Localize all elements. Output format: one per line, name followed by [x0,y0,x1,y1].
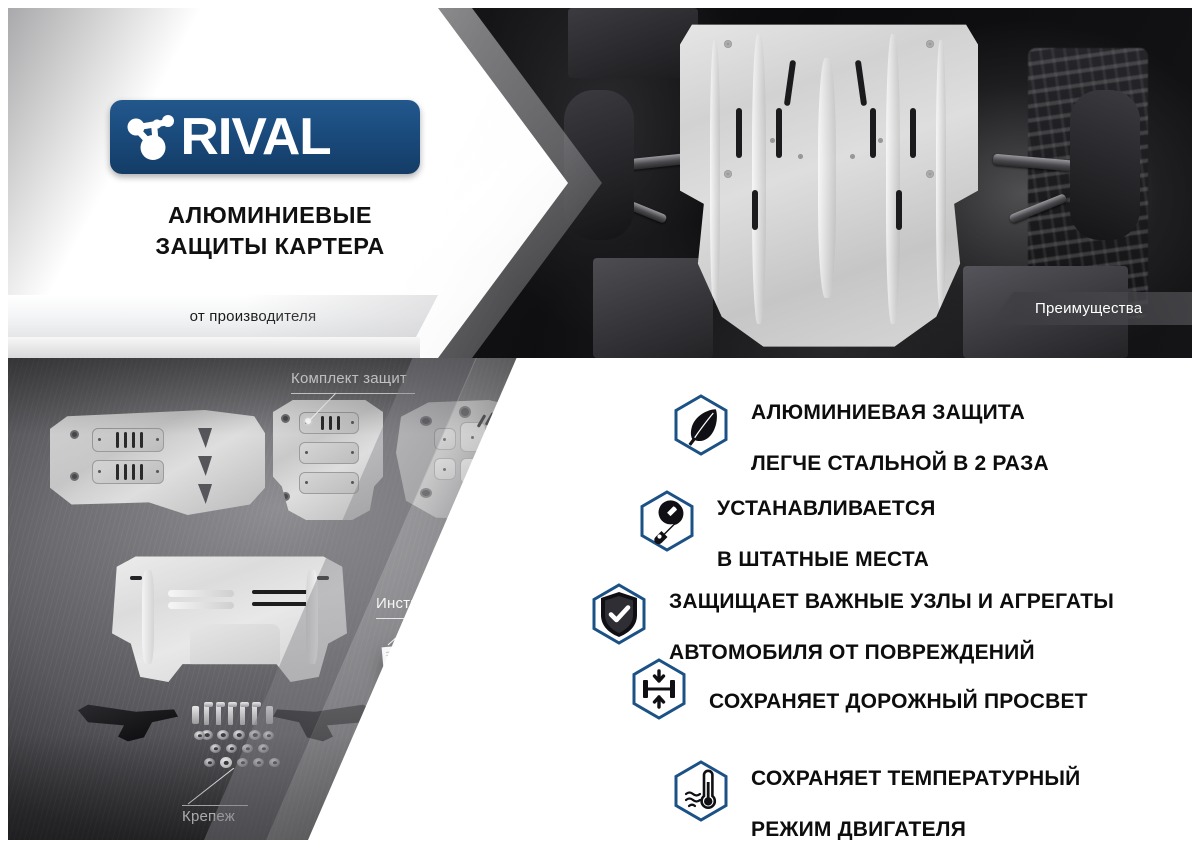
hero-underline [8,337,420,358]
feather-icon [673,394,729,456]
shield-check-icon [591,583,647,645]
feature-line1: ЗАЩИЩАЕТ ВАЖНЫЕ УЗЛЫ И АГРЕГАТЫ [669,590,1114,613]
feature-icon-frame [673,760,729,822]
underbody-part [593,258,713,358]
feature-line2: РЕЖИМ ДВИГАТЕЛЯ [751,818,966,840]
feature-item-lightweight: АЛЮМИНИЕВАЯ ЗАЩИТА ЛЕГЧЕ СТАЛЬНОЙ В 2 РА… [673,374,1049,476]
subtitle-bar: от производителя [8,295,438,337]
feature-line1: СОХРАНЯЕТ ДОРОЖНЫЙ ПРОСВЕТ [709,690,1088,713]
feature-label: СОХРАНЯЕТ ТЕМПЕРАТУРНЫЙ РЕЖИМ ДВИГАТЕЛЯ [751,740,1080,840]
feature-icon-frame [631,658,687,720]
poster-root: RIVAL АЛЮМИНИЕВЫЕ ЗАЩИТЫ КАРТЕРА от прои… [0,0,1200,848]
ground-clearance-icon [631,658,687,720]
feature-label: СОХРАНЯЕТ ДОРОЖНЫЙ ПРОСВЕТ [709,663,1088,714]
feature-label: ЗАЩИЩАЕТ ВАЖНЫЕ УЗЛЫ И АГРЕГАТЫ АВТОМОБИ… [669,563,1114,665]
molecule-icon [110,100,188,174]
page-title: АЛЮМИНИЕВЫЕ ЗАЩИТЫ КАРТЕРА [70,200,470,262]
installed-skid-plate [680,18,978,350]
feature-item-temperature: СОХРАНЯЕТ ТЕМПЕРАТУРНЫЙ РЕЖИМ ДВИГАТЕЛЯ [673,740,1080,840]
thermometer-icon [673,760,729,822]
page-title-line2: ЗАЩИТЫ КАРТЕРА [70,231,470,262]
page-title-line1: АЛЮМИНИЕВЫЕ [70,200,470,231]
wrench-icon [639,490,695,552]
feature-line1: УСТАНАВЛИВАЕТСЯ [717,497,936,520]
features-list: АЛЮМИНИЕВАЯ ЗАЩИТА ЛЕГЧЕ СТАЛЬНОЙ В 2 РА… [8,358,1192,840]
bottom-section: Комплект защит [8,358,1192,840]
poster-frame: RIVAL АЛЮМИНИЕВЫЕ ЗАЩИТЫ КАРТЕРА от прои… [8,8,1192,840]
feature-line1: АЛЮМИНИЕВАЯ ЗАЩИТА [751,401,1025,424]
feature-icon-frame [673,394,729,456]
feature-icon-frame [591,583,647,645]
feature-item-fitment: УСТАНАВЛИВАЕТСЯ В ШТАТНЫЕ МЕСТА [639,470,936,572]
subtitle-text: от производителя [190,308,317,325]
feature-label: УСТАНАВЛИВАЕТСЯ В ШТАТНЫЕ МЕСТА [717,470,936,572]
feature-item-protection: ЗАЩИЩАЕТ ВАЖНЫЕ УЗЛЫ И АГРЕГАТЫ АВТОМОБИ… [591,563,1114,665]
underbody-part [1070,90,1140,240]
advantages-tab: Преимущества [987,292,1192,325]
rival-logo: RIVAL [110,100,420,174]
feature-line1: СОХРАНЯЕТ ТЕМПЕРАТУРНЫЙ [751,767,1080,790]
advantages-tab-label: Преимущества [1035,300,1142,317]
feature-icon-frame [639,490,695,552]
logo-wordmark: RIVAL [181,111,331,163]
top-section: RIVAL АЛЮМИНИЕВЫЕ ЗАЩИТЫ КАРТЕРА от прои… [8,8,1192,358]
feature-label: АЛЮМИНИЕВАЯ ЗАЩИТА ЛЕГЧЕ СТАЛЬНОЙ В 2 РА… [751,374,1049,476]
feature-item-clearance: СОХРАНЯЕТ ДОРОЖНЫЙ ПРОСВЕТ [631,658,1088,720]
underbody-part [568,8,698,78]
